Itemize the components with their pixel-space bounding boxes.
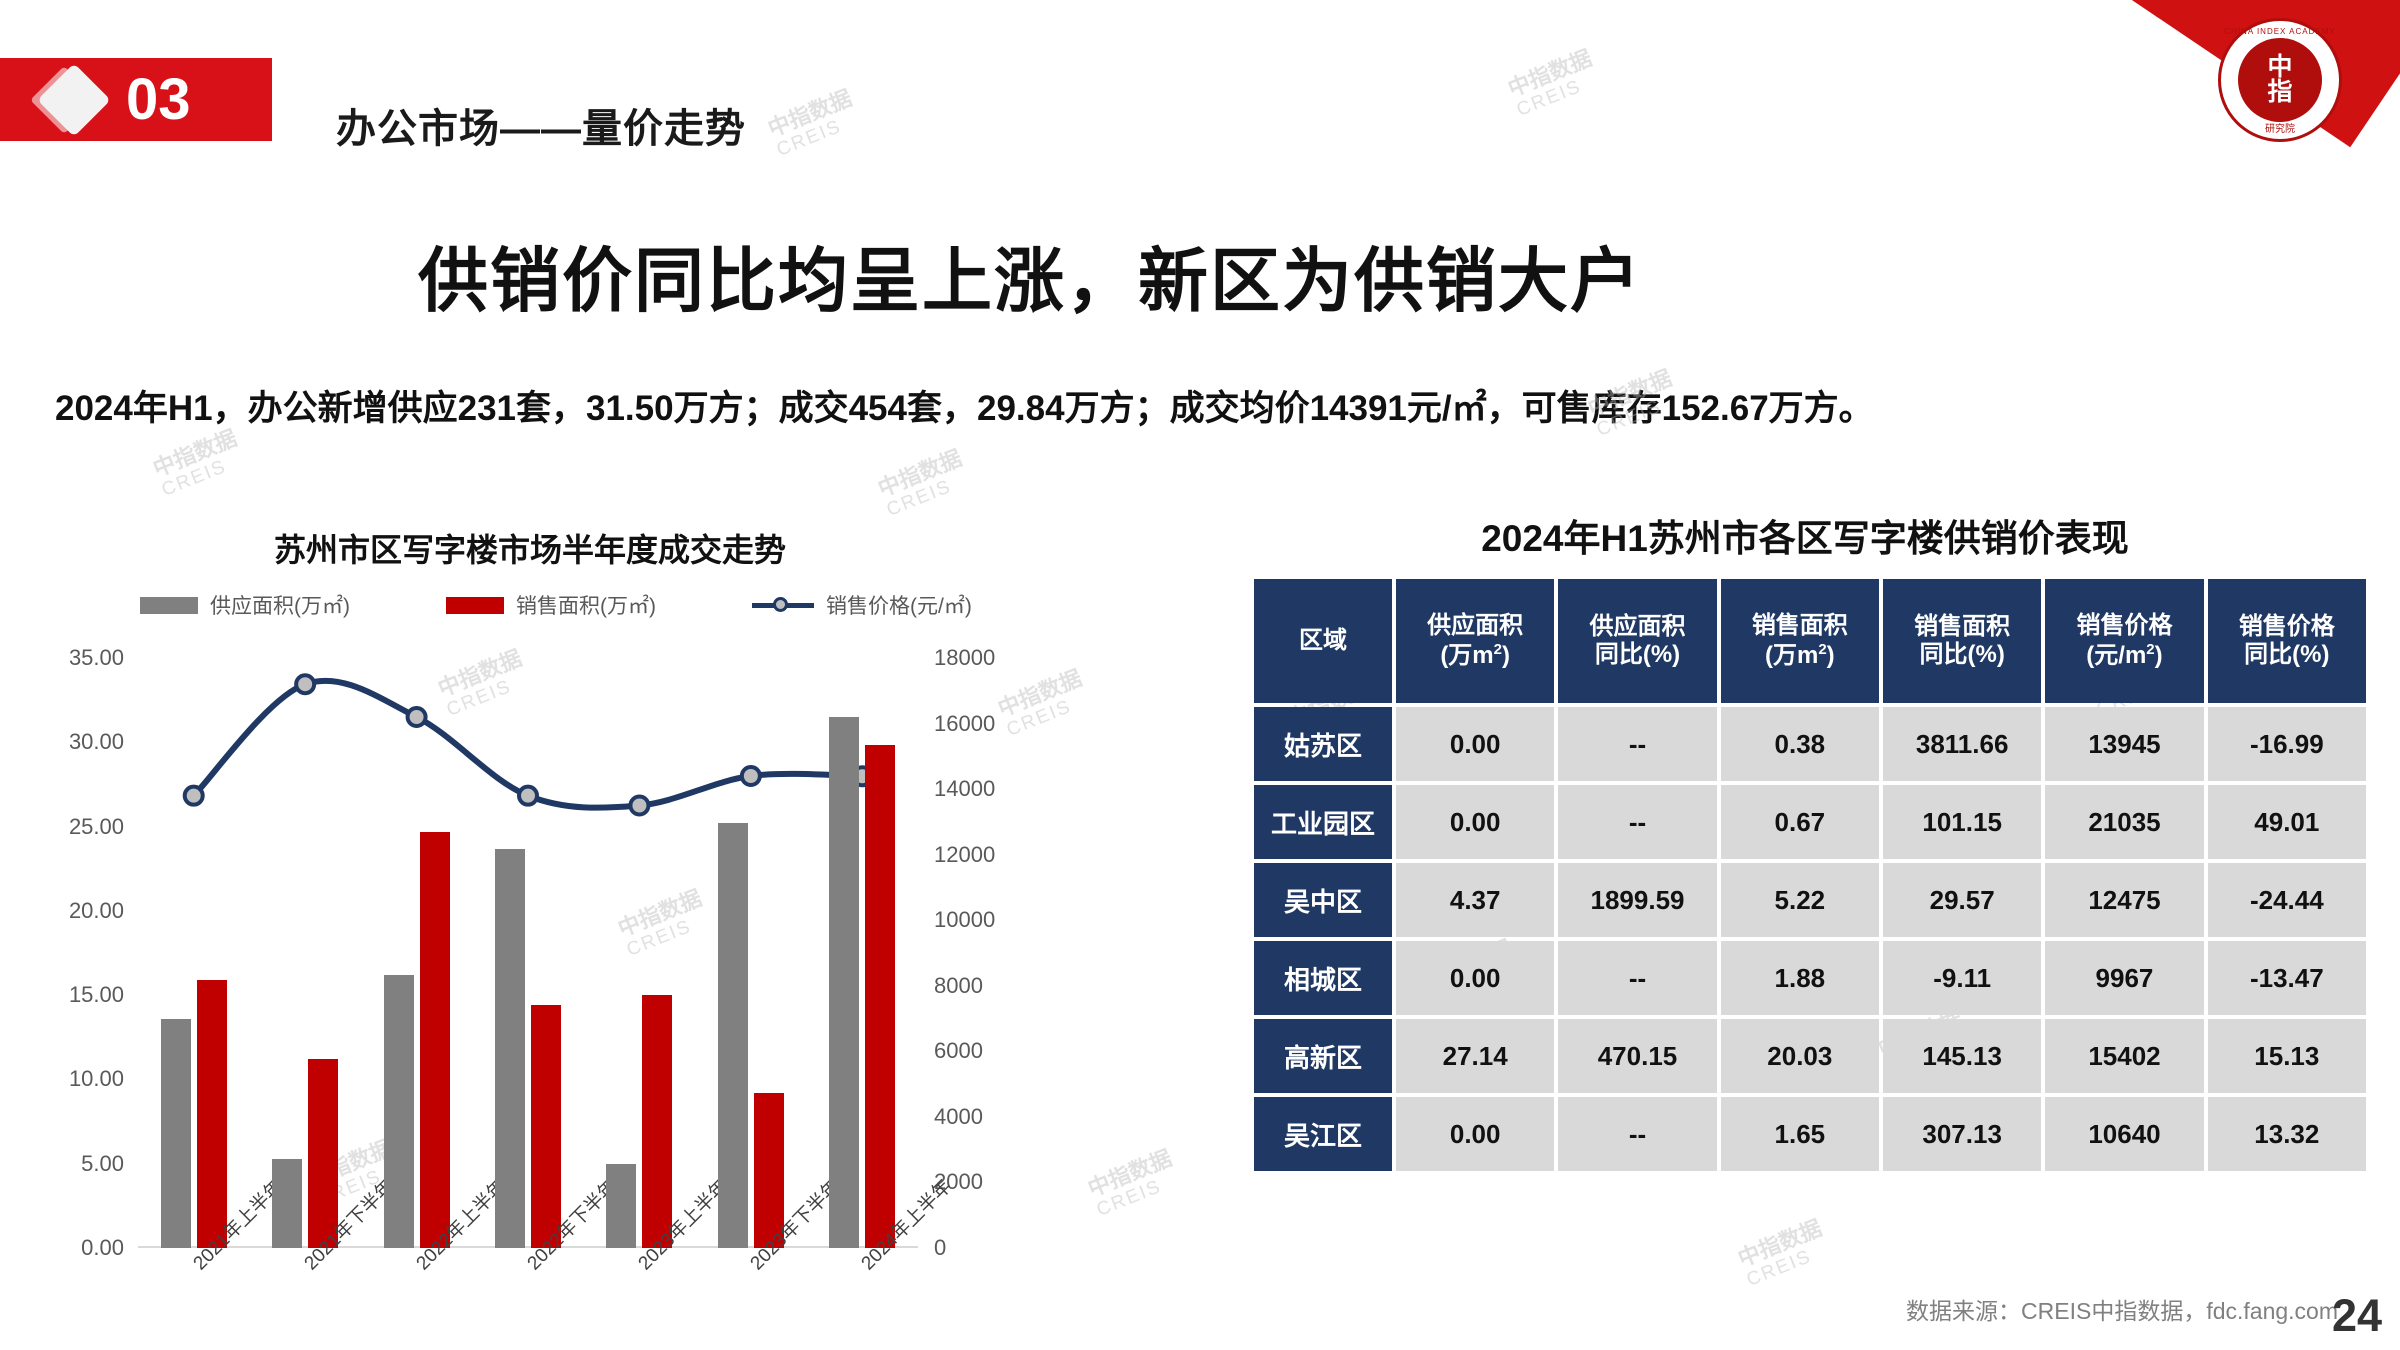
price-point-2 — [408, 708, 426, 726]
legend-item-price: 销售价格(元/㎡) — [752, 590, 972, 620]
watermark: 中指数据CREIS — [149, 425, 248, 502]
bar-sales-0 — [197, 980, 227, 1248]
region-performance-table: 区域供应面积(万m2)供应面积同比(%)销售面积(万m2)销售面积同比(%)销售… — [1250, 575, 2370, 1175]
y-axis-left-tick: 25.00 — [69, 814, 124, 840]
y-axis-left-tick: 15.00 — [69, 982, 124, 1008]
table-cell-sales_yoy: 101.15 — [1883, 785, 2041, 859]
table-col-header-0: 区域 — [1254, 579, 1392, 703]
y-axis-right-tick: 18000 — [934, 645, 995, 671]
page-number: 24 — [2332, 1290, 2382, 1342]
table-cell-sales_area: 1.88 — [1721, 941, 1879, 1015]
page-headline: 供销价同比均呈上涨，新区为供销大户 — [0, 225, 2060, 326]
bar-sales-2 — [420, 832, 450, 1248]
diamond-icon — [37, 63, 111, 137]
bar-supply-6 — [829, 717, 859, 1248]
y-axis-right-tick: 0 — [934, 1235, 946, 1261]
legend-item-supply: 供应面积(万㎡) — [140, 590, 350, 620]
summary-text: 2024年H1，办公新增供应231套，31.50万方；成交454套，29.84万… — [55, 380, 1874, 431]
table-col-header-6: 销售价格同比(%) — [2208, 579, 2366, 703]
table-col-header-4: 销售面积同比(%) — [1883, 579, 2041, 703]
table-cell-sales_area: 0.38 — [1721, 707, 1879, 781]
table-col-header-3: 销售面积(万m2) — [1721, 579, 1879, 703]
table-header-row: 区域供应面积(万m2)供应面积同比(%)销售面积(万m2)销售面积同比(%)销售… — [1254, 579, 2366, 703]
table-cell-supply_yoy: 1899.59 — [1558, 863, 1716, 937]
table-row: 相城区0.00--1.88-9.119967-13.47 — [1254, 941, 2366, 1015]
table-cell-supply_yoy: -- — [1558, 707, 1716, 781]
bar-supply-2 — [384, 975, 414, 1248]
logo-center-top: 中 — [2267, 55, 2292, 80]
bar-supply-0 — [161, 1019, 191, 1248]
price-point-0 — [185, 787, 203, 805]
table-cell-region: 工业园区 — [1254, 785, 1392, 859]
table-cell-supply_yoy: -- — [1558, 785, 1716, 859]
table-row: 工业园区0.00--0.67101.152103549.01 — [1254, 785, 2366, 859]
table-cell-region: 姑苏区 — [1254, 707, 1392, 781]
table-cell-price_yoy: -16.99 — [2208, 707, 2366, 781]
table-cell-price_yoy: 49.01 — [2208, 785, 2366, 859]
chart-title: 苏州市区写字楼市场半年度成交走势 — [30, 525, 1030, 571]
y-axis-right-tick: 16000 — [934, 711, 995, 737]
table-cell-sales_area: 20.03 — [1721, 1019, 1879, 1093]
legend-label-sales: 销售面积(万㎡) — [516, 590, 656, 620]
chart-plot-area: 0.005.0010.0015.0020.0025.0030.0035.0002… — [138, 658, 918, 1248]
y-axis-left-tick: 0.00 — [81, 1235, 124, 1261]
bar-sales-6 — [865, 745, 895, 1248]
china-index-academy-logo: CHINA INDEX ACADEMY 中 指 研究院 — [2218, 18, 2342, 142]
logo-center: 中 指 — [2238, 38, 2322, 122]
table-cell-price_yoy: -24.44 — [2208, 863, 2366, 937]
y-axis-left-tick: 30.00 — [69, 729, 124, 755]
table-cell-supply_area: 0.00 — [1396, 1097, 1554, 1171]
chart-legend: 供应面积(万㎡) 销售面积(万㎡) 销售价格(元/㎡) — [140, 590, 1000, 620]
bar-supply-4 — [606, 1164, 636, 1248]
table-cell-supply_area: 27.14 — [1396, 1019, 1554, 1093]
legend-item-sales: 销售面积(万㎡) — [446, 590, 656, 620]
watermark: 中指数据CREIS — [1734, 1215, 1833, 1292]
legend-swatch-sales-icon — [446, 597, 504, 614]
y-axis-right-tick: 4000 — [934, 1104, 983, 1130]
bar-supply-3 — [495, 849, 525, 1249]
price-point-3 — [519, 787, 537, 805]
table-cell-region: 吴江区 — [1254, 1097, 1392, 1171]
price-point-4 — [630, 797, 648, 815]
watermark: 中指数据CREIS — [764, 85, 863, 162]
table-row: 吴江区0.00--1.65307.131064013.32 — [1254, 1097, 2366, 1171]
legend-label-price: 销售价格(元/㎡) — [826, 590, 972, 620]
section-number: 03 — [126, 71, 191, 129]
data-source-note: 数据来源：CREIS中指数据，fdc.fang.com — [1906, 1292, 2338, 1326]
table-cell-sales_yoy: 3811.66 — [1883, 707, 2041, 781]
table-row: 姑苏区0.00--0.383811.6613945-16.99 — [1254, 707, 2366, 781]
table-cell-sales_yoy: 307.13 — [1883, 1097, 2041, 1171]
price-line-series — [138, 658, 918, 1248]
y-axis-left-tick: 10.00 — [69, 1066, 124, 1092]
legend-swatch-supply-icon — [140, 597, 198, 614]
table-cell-sales_area: 0.67 — [1721, 785, 1879, 859]
table-cell-supply_area: 0.00 — [1396, 707, 1554, 781]
table-cell-price: 9967 — [2045, 941, 2203, 1015]
table-cell-supply_yoy: -- — [1558, 1097, 1716, 1171]
table-cell-price: 10640 — [2045, 1097, 2203, 1171]
price-point-1 — [296, 675, 314, 693]
table-cell-supply_yoy: 470.15 — [1558, 1019, 1716, 1093]
table-cell-region: 吴中区 — [1254, 863, 1392, 937]
table-row: 高新区27.14470.1520.03145.131540215.13 — [1254, 1019, 2366, 1093]
y-axis-left-tick: 35.00 — [69, 645, 124, 671]
y-axis-right-tick: 14000 — [934, 776, 995, 802]
bar-supply-5 — [718, 823, 748, 1248]
table-cell-price_yoy: 15.13 — [2208, 1019, 2366, 1093]
table-cell-price: 21035 — [2045, 785, 2203, 859]
table-cell-region: 相城区 — [1254, 941, 1392, 1015]
price-point-5 — [742, 767, 760, 785]
logo-ring-top-text: CHINA INDEX ACADEMY — [2221, 27, 2339, 36]
table-cell-sales_area: 5.22 — [1721, 863, 1879, 937]
watermark: 中指数据CREIS — [1504, 45, 1603, 122]
table-cell-sales_yoy: 145.13 — [1883, 1019, 2041, 1093]
logo-ring-bottom-text: 研究院 — [2221, 120, 2339, 135]
table-col-header-2: 供应面积同比(%) — [1558, 579, 1716, 703]
table-cell-sales_yoy: -9.11 — [1883, 941, 2041, 1015]
table-cell-sales_area: 1.65 — [1721, 1097, 1879, 1171]
table-col-header-1: 供应面积(万m2) — [1396, 579, 1554, 703]
section-badge: 03 — [0, 58, 272, 141]
table-cell-region: 高新区 — [1254, 1019, 1392, 1093]
y-axis-right-tick: 12000 — [934, 842, 995, 868]
bar-sales-3 — [531, 1005, 561, 1248]
table-body: 姑苏区0.00--0.383811.6613945-16.99工业园区0.00-… — [1254, 707, 2366, 1171]
bar-sales-4 — [642, 995, 672, 1248]
table-cell-supply_yoy: -- — [1558, 941, 1716, 1015]
table-cell-supply_area: 0.00 — [1396, 785, 1554, 859]
table-cell-sales_yoy: 29.57 — [1883, 863, 2041, 937]
legend-line-marker-icon — [752, 596, 814, 614]
y-axis-left-tick: 5.00 — [81, 1151, 124, 1177]
table-cell-price: 12475 — [2045, 863, 2203, 937]
legend-label-supply: 供应面积(万㎡) — [210, 590, 350, 620]
table-cell-supply_area: 0.00 — [1396, 941, 1554, 1015]
trend-chart: 苏州市区写字楼市场半年度成交走势 供应面积(万㎡) 销售面积(万㎡) 销售价格(… — [30, 500, 1160, 1300]
table-cell-price: 15402 — [2045, 1019, 2203, 1093]
bar-supply-1 — [272, 1159, 302, 1248]
y-axis-right-tick: 6000 — [934, 1038, 983, 1064]
logo-center-bottom: 指 — [2267, 80, 2292, 105]
table-title: 2024年H1苏州市各区写字楼供销价表现 — [1245, 508, 2365, 562]
table-row: 吴中区4.371899.595.2229.5712475-24.44 — [1254, 863, 2366, 937]
y-axis-right-tick: 8000 — [934, 973, 983, 999]
section-title: 办公市场——量价走势 — [336, 96, 746, 154]
y-axis-left-tick: 20.00 — [69, 898, 124, 924]
y-axis-right-tick: 10000 — [934, 907, 995, 933]
table-cell-price: 13945 — [2045, 707, 2203, 781]
table-cell-price_yoy: -13.47 — [2208, 941, 2366, 1015]
table-col-header-5: 销售价格(元/m2) — [2045, 579, 2203, 703]
table-cell-price_yoy: 13.32 — [2208, 1097, 2366, 1171]
table-cell-supply_area: 4.37 — [1396, 863, 1554, 937]
